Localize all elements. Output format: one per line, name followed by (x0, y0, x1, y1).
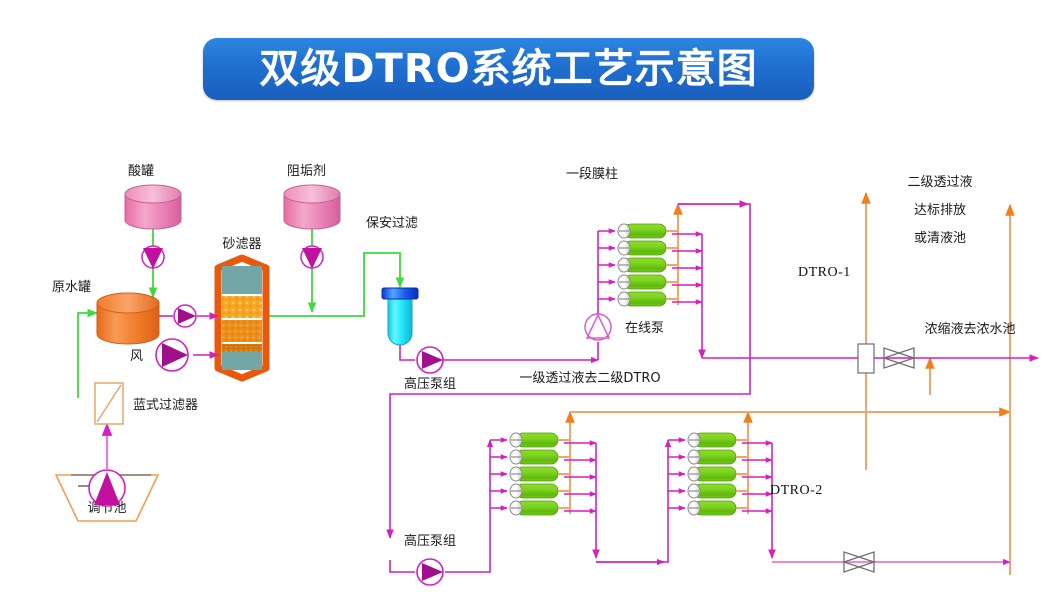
membrane-module (688, 450, 736, 464)
sand-filter-divider (222, 345, 262, 346)
equalization-lift-pump[interactable] (89, 470, 125, 506)
dtro1-feed-branches (598, 231, 615, 299)
dtro2b2-concentrate-taps (742, 443, 772, 511)
membrane-module (618, 275, 666, 289)
cartridge-filter-vessel (388, 300, 412, 345)
pipe-hp2-inlet (390, 560, 415, 572)
label-dtro-1: DTRO-1 (798, 265, 851, 280)
pipe-bank1-to-bank2 (596, 440, 668, 562)
membrane-module (688, 501, 736, 515)
dtro2b2-feed-branches (668, 440, 685, 508)
sand-filter-freeboard-top (222, 266, 262, 294)
dtro1-permeate-lines (666, 204, 678, 305)
online-pump[interactable]: 在线泵 (585, 314, 664, 340)
cartridge-filter-cap (382, 288, 418, 299)
label-antiscalant: 阻垢剂 (287, 164, 326, 179)
sand-filter-media-2 (222, 320, 262, 342)
membrane-module (510, 433, 558, 447)
label-cartridge-filter: 保安过滤 (366, 216, 418, 231)
diagram-canvas: 双级DTRO系统工艺示意图 (0, 0, 1044, 611)
pipe-hp2-to-dtro2-bank1 (445, 440, 490, 572)
membrane-module (510, 501, 558, 515)
sand-filter: 砂滤器 (218, 237, 266, 378)
label-hp-pump-1: 高压泵组 (404, 376, 456, 392)
acid-tank-top (125, 185, 181, 203)
membrane-module (618, 292, 666, 306)
label-permeate-to-stage2: 一级透过液去二级DTRO (519, 371, 660, 386)
dtro1-concentrate-taps (672, 234, 702, 302)
sand-filter-media-1 (222, 296, 262, 318)
label-concentrate-out: 浓缩液去浓水池 (924, 321, 1015, 337)
sand-filter-underdrain (222, 352, 262, 370)
raw-water-tank: 原水罐 (52, 280, 159, 344)
dtro2b2-permeate-lines (736, 412, 748, 514)
pipe-sandfilter-to-cartridge (266, 253, 400, 316)
label-raw-water-tank: 原水罐 (52, 280, 91, 295)
pipe-cartridge-to-hp1 (400, 345, 415, 360)
hp-pump-set-2[interactable]: 高压泵组 (404, 533, 456, 585)
membrane-module (510, 484, 558, 498)
label-air-blower: 风 (130, 349, 143, 364)
antiscalant-tank: 阻垢剂 (284, 164, 340, 229)
membrane-module (688, 484, 736, 498)
dtro1-modules (618, 224, 666, 306)
membrane-module (688, 467, 736, 481)
raw-water-tank-top (97, 293, 159, 313)
dtro2-bank-1 (490, 412, 668, 562)
antiscalant-dosing-pump[interactable] (301, 246, 323, 269)
cartridge-filter: 保安过滤 (366, 216, 418, 345)
hp-pump-set-1[interactable]: 高压泵组 (404, 347, 456, 392)
pipe-dtro1-top-return (678, 204, 750, 358)
membrane-module (618, 258, 666, 272)
membrane-module (618, 224, 666, 238)
membrane-module (618, 241, 666, 255)
pipe-basketfilter-to-rawtank (78, 313, 97, 398)
inline-instrument (858, 344, 874, 373)
dtro2b1-concentrate-taps (564, 443, 596, 511)
label-sand-filter: 砂滤器 (222, 237, 261, 252)
process-flow-diagram: 调节池 蓝式过滤器 酸罐 阻垢剂 (0, 0, 1044, 611)
instrument-body (858, 344, 874, 373)
acid-dosing-pump[interactable] (142, 246, 164, 269)
dtro2-bank-2 (668, 412, 772, 558)
label-hp-pump-2: 高压泵组 (404, 533, 456, 549)
membrane-module (688, 433, 736, 447)
acid-tank: 酸罐 (125, 164, 181, 229)
raw-water-feed-pump[interactable] (174, 305, 196, 327)
dtro2b1-modules (510, 433, 558, 515)
dtro2b1-feed-branches (490, 440, 507, 508)
label-acid-tank: 酸罐 (128, 164, 154, 179)
label-stage2-permeate-line3: 或清液池 (914, 231, 966, 246)
label-online-pump: 在线泵 (625, 321, 664, 336)
dtro2b1-permeate-lines (558, 412, 570, 514)
antiscalant-tank-top (284, 185, 340, 203)
label-stage2-permeate-line1: 二级透过液 (907, 175, 972, 190)
dtro2b2-modules (688, 433, 736, 515)
label-basket-filter: 蓝式过滤器 (133, 398, 198, 413)
basket-filter: 蓝式过滤器 (95, 383, 198, 424)
membrane-module (510, 450, 558, 464)
label-dtro-2: DTRO-2 (770, 483, 823, 498)
label-stage1-membrane: 一段膜柱 (566, 167, 618, 182)
label-stage2-permeate-line2: 达标排放 (914, 203, 966, 218)
membrane-module (510, 467, 558, 481)
online-pump-body (585, 314, 611, 340)
